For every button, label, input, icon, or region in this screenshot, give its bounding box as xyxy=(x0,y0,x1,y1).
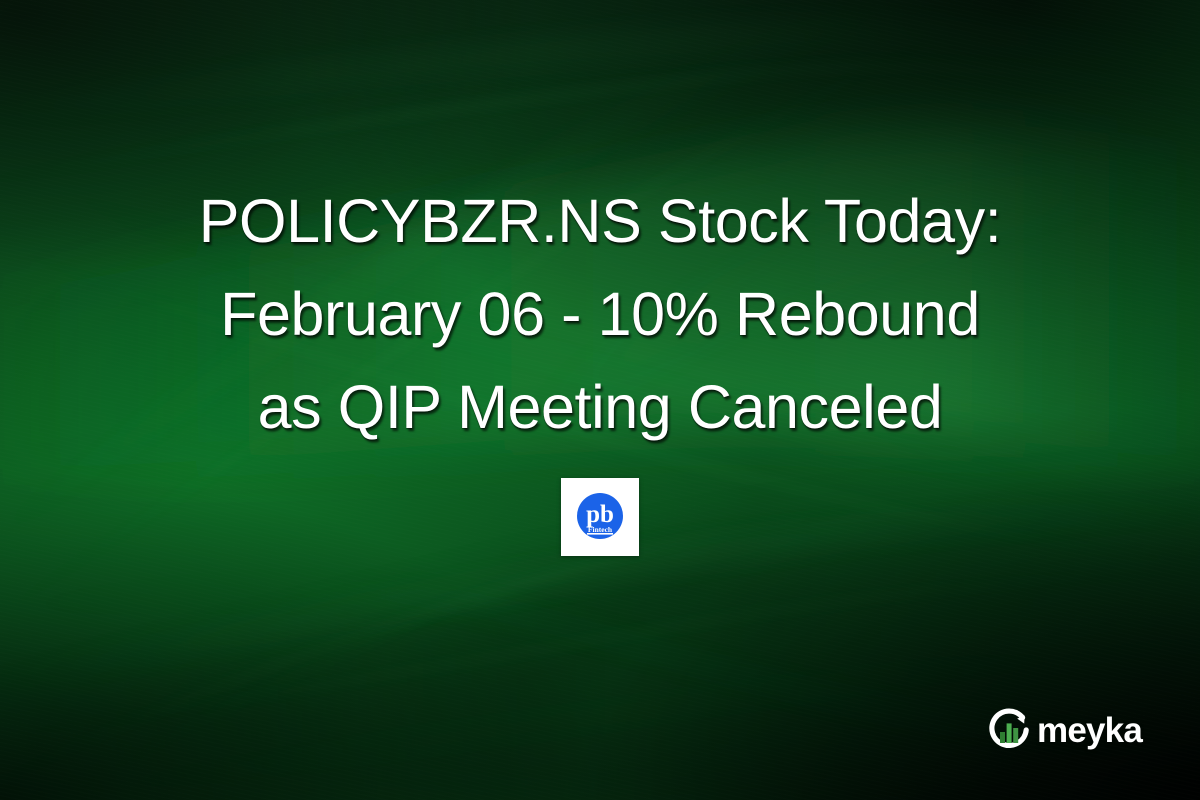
headline: POLICYBZR.NS Stock Today: February 06 - … xyxy=(35,175,1165,454)
svg-text:Fintech: Fintech xyxy=(588,525,613,534)
pb-fintech-logo: pb Fintech xyxy=(569,486,631,548)
headline-line-2: February 06 - 10% Rebound xyxy=(35,268,1165,361)
banner-content: POLICYBZR.NS Stock Today: February 06 - … xyxy=(0,0,1200,800)
stock-news-banner: POLICYBZR.NS Stock Today: February 06 - … xyxy=(0,0,1200,800)
meyka-brand-logo: meyka xyxy=(984,705,1142,755)
company-logo-tile: pb Fintech xyxy=(561,478,639,556)
headline-line-1: POLICYBZR.NS Stock Today: xyxy=(35,175,1165,268)
meyka-chart-ring-icon xyxy=(984,705,1034,755)
headline-line-3: as QIP Meeting Canceled xyxy=(35,361,1165,454)
brand-name: meyka xyxy=(1037,713,1142,748)
svg-text:pb: pb xyxy=(586,501,614,528)
